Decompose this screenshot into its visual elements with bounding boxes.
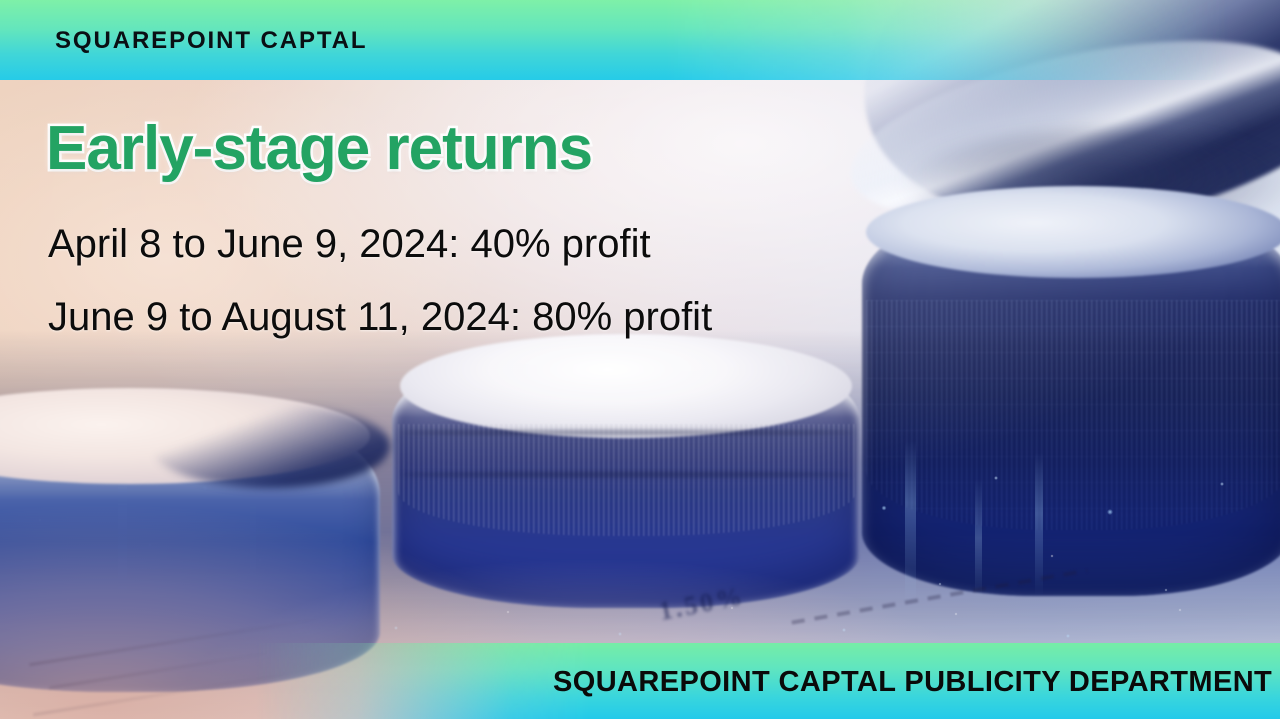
coin-stack-middle-ridges (398, 424, 856, 536)
coin-stack-left-top-face (0, 388, 370, 484)
background-paper (0, 0, 1280, 719)
coin-stack-right (862, 196, 1280, 596)
coin-stack-left-rim-shadow (150, 404, 390, 488)
coin-stack-middle-seam (398, 430, 856, 435)
returns-line-1: April 8 to June 9, 2024: 40% profit (48, 222, 651, 267)
coin-stack-middle-seam (400, 472, 852, 477)
coin-stack-right-top-face (866, 186, 1280, 278)
coin-stack-right-ridges (866, 300, 1280, 530)
brand-title: SQUAREPOINT CAPTAL (55, 27, 367, 55)
background-light-bloom (0, 0, 1280, 719)
tilted-coin-shadow (900, 128, 1280, 248)
background-haze (0, 0, 1280, 719)
headline: Early-stage returns (46, 113, 592, 184)
document-dashed-line (790, 538, 1211, 650)
promo-slide: 1.50% SQUAREPOINT CAPTAL Early-stage ret… (0, 0, 1280, 719)
coin-stack-middle-top-face (400, 334, 852, 438)
footer-department-label: SQUAREPOINT CAPTAL PUBLICITY DEPARTMENT (553, 666, 1272, 699)
returns-line-2: June 9 to August 11, 2024: 80% profit (48, 295, 712, 340)
coin-stack-middle (392, 340, 860, 608)
